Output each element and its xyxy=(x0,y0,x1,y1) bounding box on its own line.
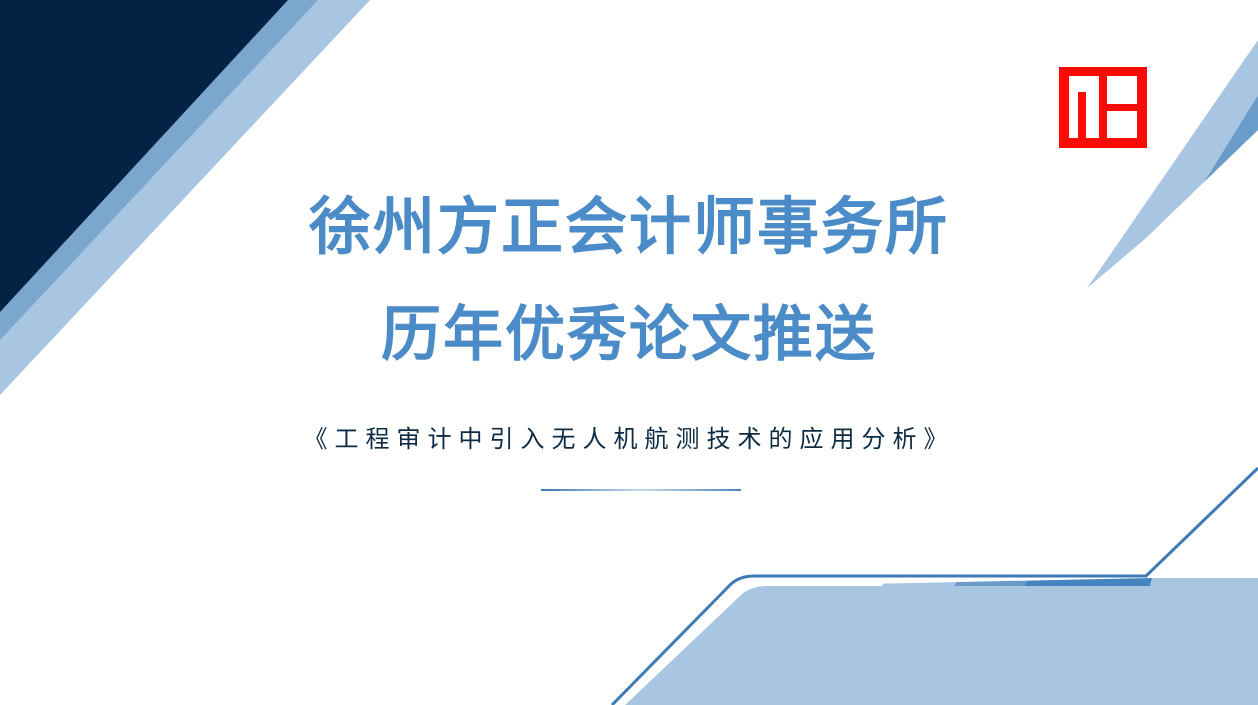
title-text-block: 徐州方正会计师事务所 历年优秀论文推送 《工程审计中引入无人机航测技术的应用分析… xyxy=(0,0,1258,705)
slide-canvas: 徐州方正会计师事务所 历年优秀论文推送 《工程审计中引入无人机航测技术的应用分析… xyxy=(0,0,1258,705)
page-title-line-2: 历年优秀论文推送 xyxy=(0,305,1258,365)
page-title-line-1: 徐州方正会计师事务所 xyxy=(0,197,1258,259)
paper-subtitle: 《工程审计中引入无人机航测技术的应用分析》 xyxy=(0,428,1258,452)
title-divider-line xyxy=(541,489,741,491)
